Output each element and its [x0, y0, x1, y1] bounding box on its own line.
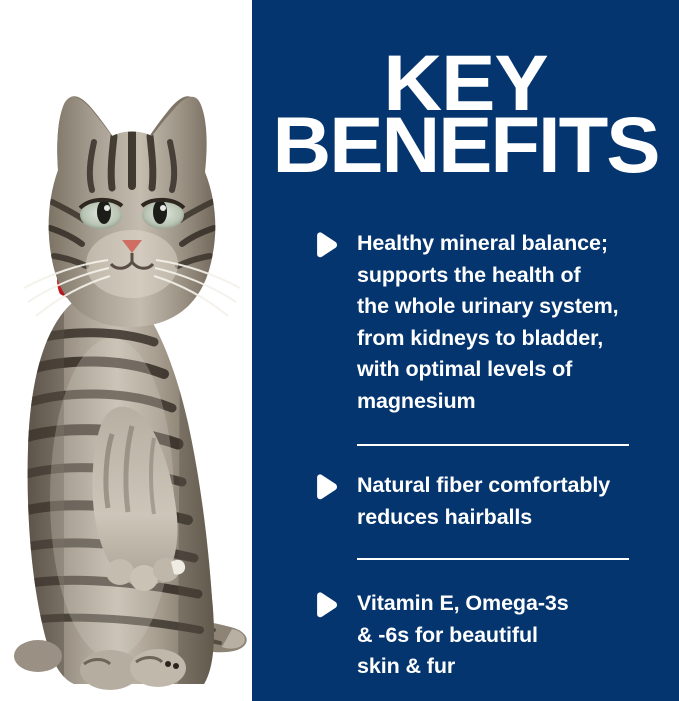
benefit-text-3: Vitamin E, Omega-3s & -6s for beautiful …: [357, 588, 569, 683]
page-title-line2: BENEFITS: [246, 114, 679, 176]
page-title: KEY BENEFITS: [252, 52, 679, 176]
cat-head: [24, 96, 240, 327]
benefit-item-2: Natural fiber comfortably reduces hairba…: [313, 470, 679, 533]
benefit-text-2: Natural fiber comfortably reduces hairba…: [357, 470, 610, 533]
cat-photo: [8, 78, 252, 698]
triangle-right-icon: [313, 232, 339, 258]
benefit-text-1: Healthy mineral balance; supports the he…: [357, 228, 619, 417]
product-photo-panel: [0, 0, 252, 701]
benefits-list: Healthy mineral balance; supports the he…: [313, 228, 679, 683]
triangle-right-icon: [313, 474, 339, 500]
triangle-right-icon: [313, 592, 339, 618]
benefit-item-1: Healthy mineral balance; supports the he…: [313, 228, 679, 417]
benefit-item-3: Vitamin E, Omega-3s & -6s for beautiful …: [313, 588, 679, 683]
key-benefits-banner: KEY BENEFITS Healthy mineral balance; su…: [0, 0, 679, 701]
benefits-panel: KEY BENEFITS Healthy mineral balance; su…: [252, 0, 679, 701]
